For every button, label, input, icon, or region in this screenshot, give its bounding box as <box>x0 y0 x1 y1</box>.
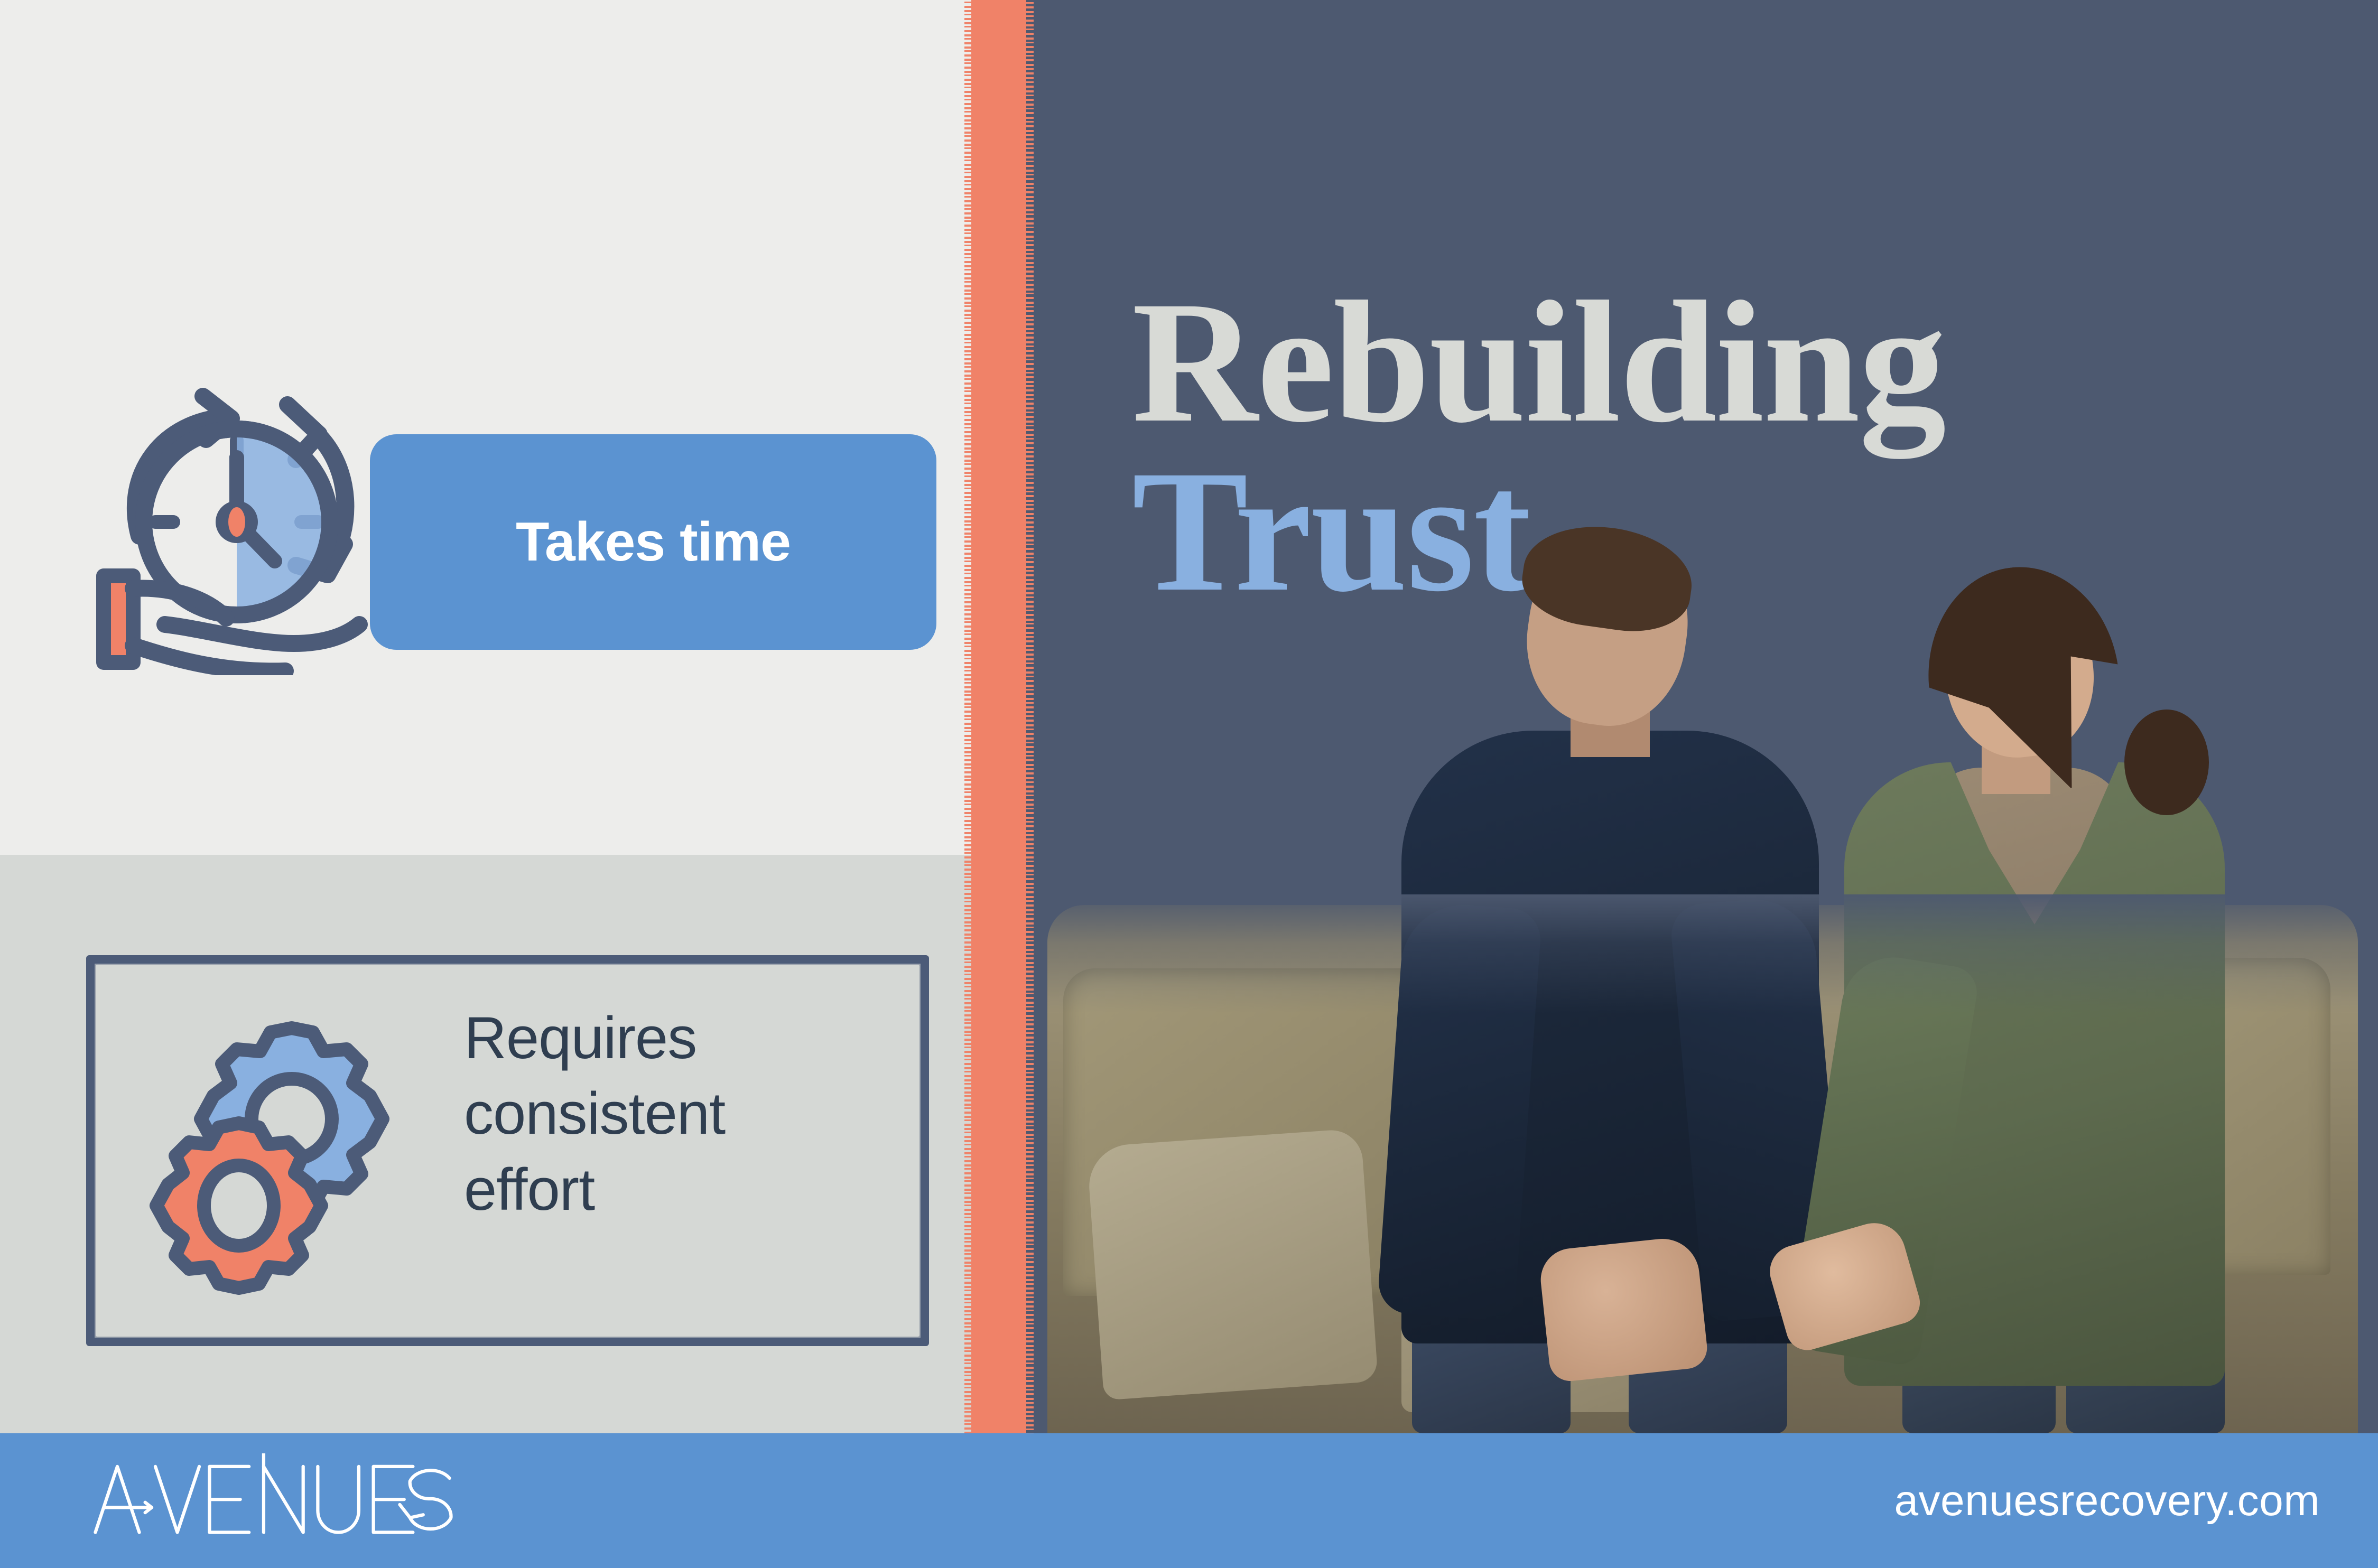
cushion-left <box>1086 1128 1378 1400</box>
right-panel: Rebuilding Trust <box>1032 0 2378 1433</box>
page-title-line-1: Rebuilding <box>1132 278 1945 447</box>
couple-on-couch-photo <box>1032 894 2378 1433</box>
card-takes-time-label: Takes time <box>516 511 791 574</box>
man-arm-left <box>1377 901 1543 1321</box>
person-woman <box>1823 577 2246 1433</box>
person-man <box>1370 535 1835 1433</box>
infographic-canvas: Takes time Requires consistent effort <box>0 0 2378 1568</box>
card-requires-consistent-effort[interactable]: Requires consistent effort <box>86 955 929 1346</box>
website-url[interactable]: avenuesrecovery.com <box>1894 1476 2320 1526</box>
torn-coral-divider <box>971 0 1034 1433</box>
two-gears-icon <box>142 1013 416 1299</box>
man-clasped-hands <box>1538 1235 1709 1383</box>
divider-left-edge <box>964 0 978 1433</box>
clock-in-hand-icon <box>68 379 395 675</box>
woman-hair-bun <box>2124 710 2209 815</box>
card-takes-time[interactable]: Takes time <box>370 434 936 650</box>
avenues-logo[interactable] <box>79 1453 460 1548</box>
divider-right-edge <box>1026 0 1040 1433</box>
footer-bar: avenuesrecovery.com <box>0 1433 2378 1568</box>
card-requires-consistent-effort-label: Requires consistent effort <box>464 1000 725 1227</box>
